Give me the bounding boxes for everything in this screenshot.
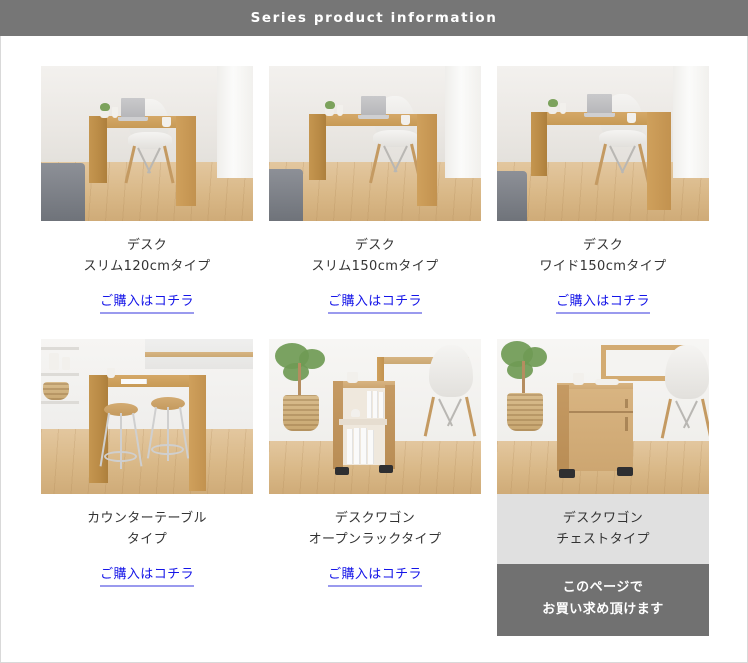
wagon-chest-left-side xyxy=(557,385,569,471)
shelf-bar xyxy=(41,347,79,350)
buy-link-counter-table[interactable]: ご購入はコチラ xyxy=(100,563,194,587)
curtain xyxy=(217,66,253,178)
desk-leg-right xyxy=(647,112,671,210)
sofa xyxy=(41,163,85,221)
curtain xyxy=(673,66,709,178)
curtain xyxy=(445,66,481,178)
product-image-desk-wagon-chest xyxy=(497,339,709,494)
drawer-handle-upper xyxy=(625,399,628,408)
product-card-counter-table[interactable]: カウンターテーブル タイプ ご購入はコチラ xyxy=(41,339,253,636)
book xyxy=(367,391,372,418)
product-name-line-2: ワイド150cmタイプ xyxy=(497,256,709,277)
product-name-line-2: オープンラックタイプ xyxy=(269,529,481,550)
product-card-desk-wagon-chest-current: デスクワゴン チェストタイプ このページで お買い求め頂けます xyxy=(497,339,709,636)
laptop-screen xyxy=(587,94,612,113)
desk-leg-left xyxy=(89,116,107,183)
mug xyxy=(401,115,410,125)
plant-pot xyxy=(100,110,109,118)
mug xyxy=(627,113,636,123)
desk-tray xyxy=(595,379,619,385)
plant-leaf xyxy=(325,101,335,109)
plant-pot xyxy=(325,108,334,116)
buy-link-desk-slim-120[interactable]: ご購入はコチラ xyxy=(100,290,194,314)
product-image-desk-wide-150[interactable] xyxy=(497,66,709,221)
book xyxy=(379,392,384,418)
series-product-information-page: Series product information xyxy=(0,0,748,663)
product-name-line-2: チェストタイプ xyxy=(497,529,709,550)
desk-leg-right xyxy=(417,114,437,206)
stool-ring xyxy=(104,451,137,462)
product-name-line-1: カウンターテーブル xyxy=(41,508,253,529)
tree-foliage xyxy=(507,361,533,379)
counter-table-leg-right xyxy=(189,375,206,491)
shelf-bar xyxy=(41,373,79,376)
product-name-desk-wagon-chest: デスクワゴン チェストタイプ xyxy=(497,494,709,564)
plant-basket xyxy=(283,395,319,431)
sofa xyxy=(497,171,527,221)
file xyxy=(361,428,367,464)
scene-room-desk-slim-120 xyxy=(41,66,253,221)
pen-cup xyxy=(560,103,566,114)
product-name-desk-slim-150: デスク スリム150cmタイプ xyxy=(269,221,481,277)
tree-foliage xyxy=(283,363,309,381)
product-name-desk-slim-120: デスク スリム120cmタイプ xyxy=(41,221,253,277)
mug xyxy=(162,117,171,127)
caster xyxy=(559,469,575,478)
cta-wrap-desk-wagon-open-rack: ご購入はコチラ xyxy=(269,550,481,587)
current-page-note-line-1: このページで xyxy=(497,577,709,599)
plant-pot xyxy=(548,106,557,114)
book xyxy=(373,391,378,418)
caster xyxy=(617,467,633,476)
product-name-line-2: スリム120cmタイプ xyxy=(41,256,253,277)
shelf-jar xyxy=(62,357,70,370)
product-name-line-1: デスクワゴン xyxy=(497,508,709,529)
product-name-line-1: デスクワゴン xyxy=(269,508,481,529)
buy-link-desk-wide-150[interactable]: ご購入はコチラ xyxy=(556,290,650,314)
product-name-line-1: デスク xyxy=(41,235,253,256)
shelf-basket xyxy=(43,382,69,400)
product-name-line-2: スリム150cmタイプ xyxy=(269,256,481,277)
product-image-desk-slim-120[interactable] xyxy=(41,66,253,221)
product-name-desk-wagon-open-rack: デスクワゴン オープンラックタイプ xyxy=(269,494,481,550)
file xyxy=(368,430,374,464)
buy-link-desk-wagon-open-rack[interactable]: ご購入はコチラ xyxy=(328,563,422,587)
content-panel: デスク スリム120cmタイプ ご購入はコチラ xyxy=(0,36,748,663)
page-title: Series product information xyxy=(251,10,498,26)
table-mug xyxy=(107,368,115,378)
caster xyxy=(379,465,393,473)
floor xyxy=(41,429,253,494)
pen-cup xyxy=(347,372,358,383)
drawer-handle-lower xyxy=(625,417,628,431)
chair-seat xyxy=(665,345,709,399)
drawer-divider xyxy=(569,411,633,413)
laptop-base xyxy=(118,117,148,121)
scene-room-wagon-chest xyxy=(497,339,709,494)
cta-wrap-counter-table: ご購入はコチラ xyxy=(41,550,253,587)
wagon-left-side xyxy=(333,381,343,469)
cta-wrap-desk-slim-150: ご購入はコチラ xyxy=(269,277,481,314)
product-name-desk-wide-150: デスク ワイド150cmタイプ xyxy=(497,221,709,277)
wagon-chest-front xyxy=(569,389,633,471)
product-name-line-1: デスク xyxy=(269,235,481,256)
file xyxy=(347,429,353,464)
shelf-bar xyxy=(41,401,79,404)
laptop-screen xyxy=(121,98,145,117)
product-grid: デスク スリム120cmタイプ ご購入はコチラ xyxy=(41,66,709,636)
sofa xyxy=(269,169,303,221)
scene-room-wagon-open-rack xyxy=(269,339,481,494)
laptop-base xyxy=(358,115,389,119)
cta-wrap-desk-slim-120: ご購入はコチラ xyxy=(41,277,253,314)
product-row-1: デスク スリム120cmタイプ ご購入はコチラ xyxy=(41,66,709,314)
scene-kitchen-counter-table xyxy=(41,339,253,494)
product-name-line-2: タイプ xyxy=(41,529,253,550)
product-name-counter-table: カウンターテーブル タイプ xyxy=(41,494,253,550)
product-image-counter-table[interactable] xyxy=(41,339,253,494)
section-header-bar: Series product information xyxy=(0,0,748,36)
desk-leg-left xyxy=(309,114,326,180)
plant-leaf xyxy=(548,99,558,107)
desk-leg-right xyxy=(176,116,196,206)
table-magazine xyxy=(121,379,147,384)
product-card-desk-slim-120[interactable]: デスク スリム120cmタイプ ご購入はコチラ xyxy=(41,66,253,314)
scene-room-desk-wide-150 xyxy=(497,66,709,221)
current-page-note-line-2: お買い求め頂けます xyxy=(497,599,709,621)
wagon-right-side xyxy=(385,385,395,469)
stool-ring xyxy=(151,444,184,455)
caster xyxy=(335,467,349,475)
laptop-base xyxy=(584,113,615,117)
file xyxy=(354,428,360,464)
plant-leaf xyxy=(100,103,110,111)
product-name-line-1: デスク xyxy=(497,235,709,256)
ornament xyxy=(351,409,360,417)
product-card-desk-slim-150[interactable]: デスク スリム150cmタイプ ご購入はコチラ xyxy=(269,66,481,314)
buy-link-desk-slim-150[interactable]: ご購入はコチラ xyxy=(328,290,422,314)
shelf-jar xyxy=(49,353,59,370)
pen-cup xyxy=(112,107,118,118)
scene-room-desk-slim-150 xyxy=(269,66,481,221)
current-page-note: このページで お買い求め頂けます xyxy=(497,564,709,636)
product-card-desk-wagon-open-rack[interactable]: デスクワゴン オープンラックタイプ ご購入はコチラ xyxy=(269,339,481,636)
plant-basket xyxy=(507,393,543,431)
pen-cup xyxy=(573,373,584,385)
product-card-desk-wide-150[interactable]: デスク ワイド150cmタイプ ご購入はコチラ xyxy=(497,66,709,314)
pen-cup xyxy=(337,105,343,116)
cta-wrap-desk-wide-150: ご購入はコチラ xyxy=(497,277,709,314)
desk-leg-left xyxy=(531,112,547,176)
chair-seat xyxy=(429,345,473,397)
product-row-2: カウンターテーブル タイプ ご購入はコチラ xyxy=(41,339,709,636)
product-image-desk-slim-150[interactable] xyxy=(269,66,481,221)
kitchen-counter-top xyxy=(145,352,253,357)
laptop-screen xyxy=(361,96,386,115)
product-image-desk-wagon-open-rack[interactable] xyxy=(269,339,481,494)
